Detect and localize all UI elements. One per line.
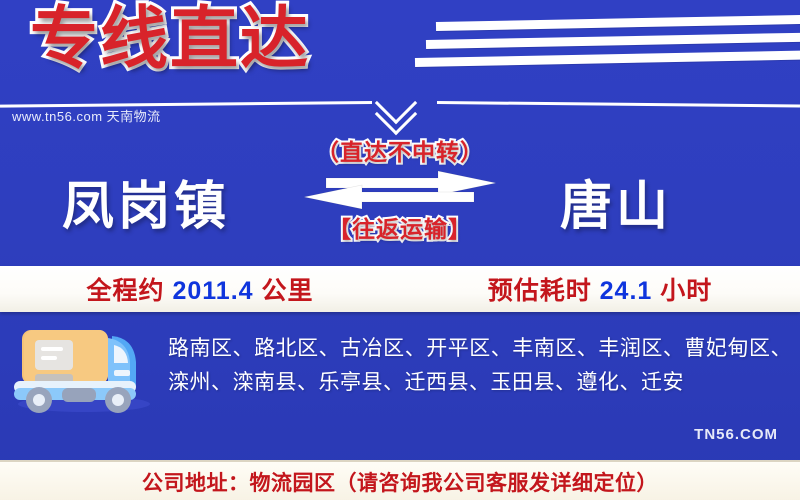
direct-route-badge: （直达不中转） bbox=[290, 138, 510, 167]
divider-line-right bbox=[437, 101, 800, 107]
page-title: 专线直达 bbox=[30, 4, 310, 75]
diagonal-stripe-icon bbox=[436, 14, 800, 31]
diagonal-stripe-icon bbox=[415, 50, 800, 67]
destination-city: 唐山 bbox=[560, 164, 672, 239]
distance-stat: 全程约 2011.4 公里 bbox=[0, 271, 400, 307]
diagonal-stripe-icon bbox=[426, 32, 800, 49]
footer-address-bar: 公司地址：物流园区（请咨询我公司客服发详细定位） bbox=[0, 460, 800, 500]
bidirectional-arrow-icon bbox=[290, 169, 510, 211]
stats-band: 全程约 2011.4 公里 预估耗时 24.1 小时 bbox=[0, 266, 800, 312]
brand-site-line: www.tn56.com 天南物流 bbox=[12, 106, 161, 125]
watermark-label: TN56.COM bbox=[694, 426, 778, 443]
distance-label: 全程约 bbox=[86, 277, 164, 305]
footer-address-text: 公司地址：物流园区（请咨询我公司客服发详细定位） bbox=[142, 467, 658, 497]
logistics-route-poster: 专线直达 www.tn56.com 天南物流 凤岗镇 唐山 （直达不中转） 【往… bbox=[0, 0, 800, 500]
duration-unit: 小时 bbox=[660, 277, 712, 305]
delivery-truck-icon bbox=[8, 318, 160, 419]
coverage-area-list: 路南区、路北区、古冶区、开平区、丰南区、丰润区、曹妃甸区、滦州、滦南县、乐亭县、… bbox=[168, 332, 792, 400]
route-badge-group: （直达不中转） 【往返运输】 bbox=[290, 138, 510, 244]
distance-unit: 公里 bbox=[262, 277, 314, 305]
distance-value: 2011.4 bbox=[172, 277, 253, 305]
origin-city: 凤岗镇 bbox=[62, 164, 230, 239]
duration-label: 预估耗时 bbox=[488, 277, 592, 305]
duration-stat: 预估耗时 24.1 小时 bbox=[400, 271, 800, 307]
duration-value: 24.1 bbox=[600, 277, 653, 305]
round-trip-badge: 【往返运输】 bbox=[290, 215, 510, 244]
